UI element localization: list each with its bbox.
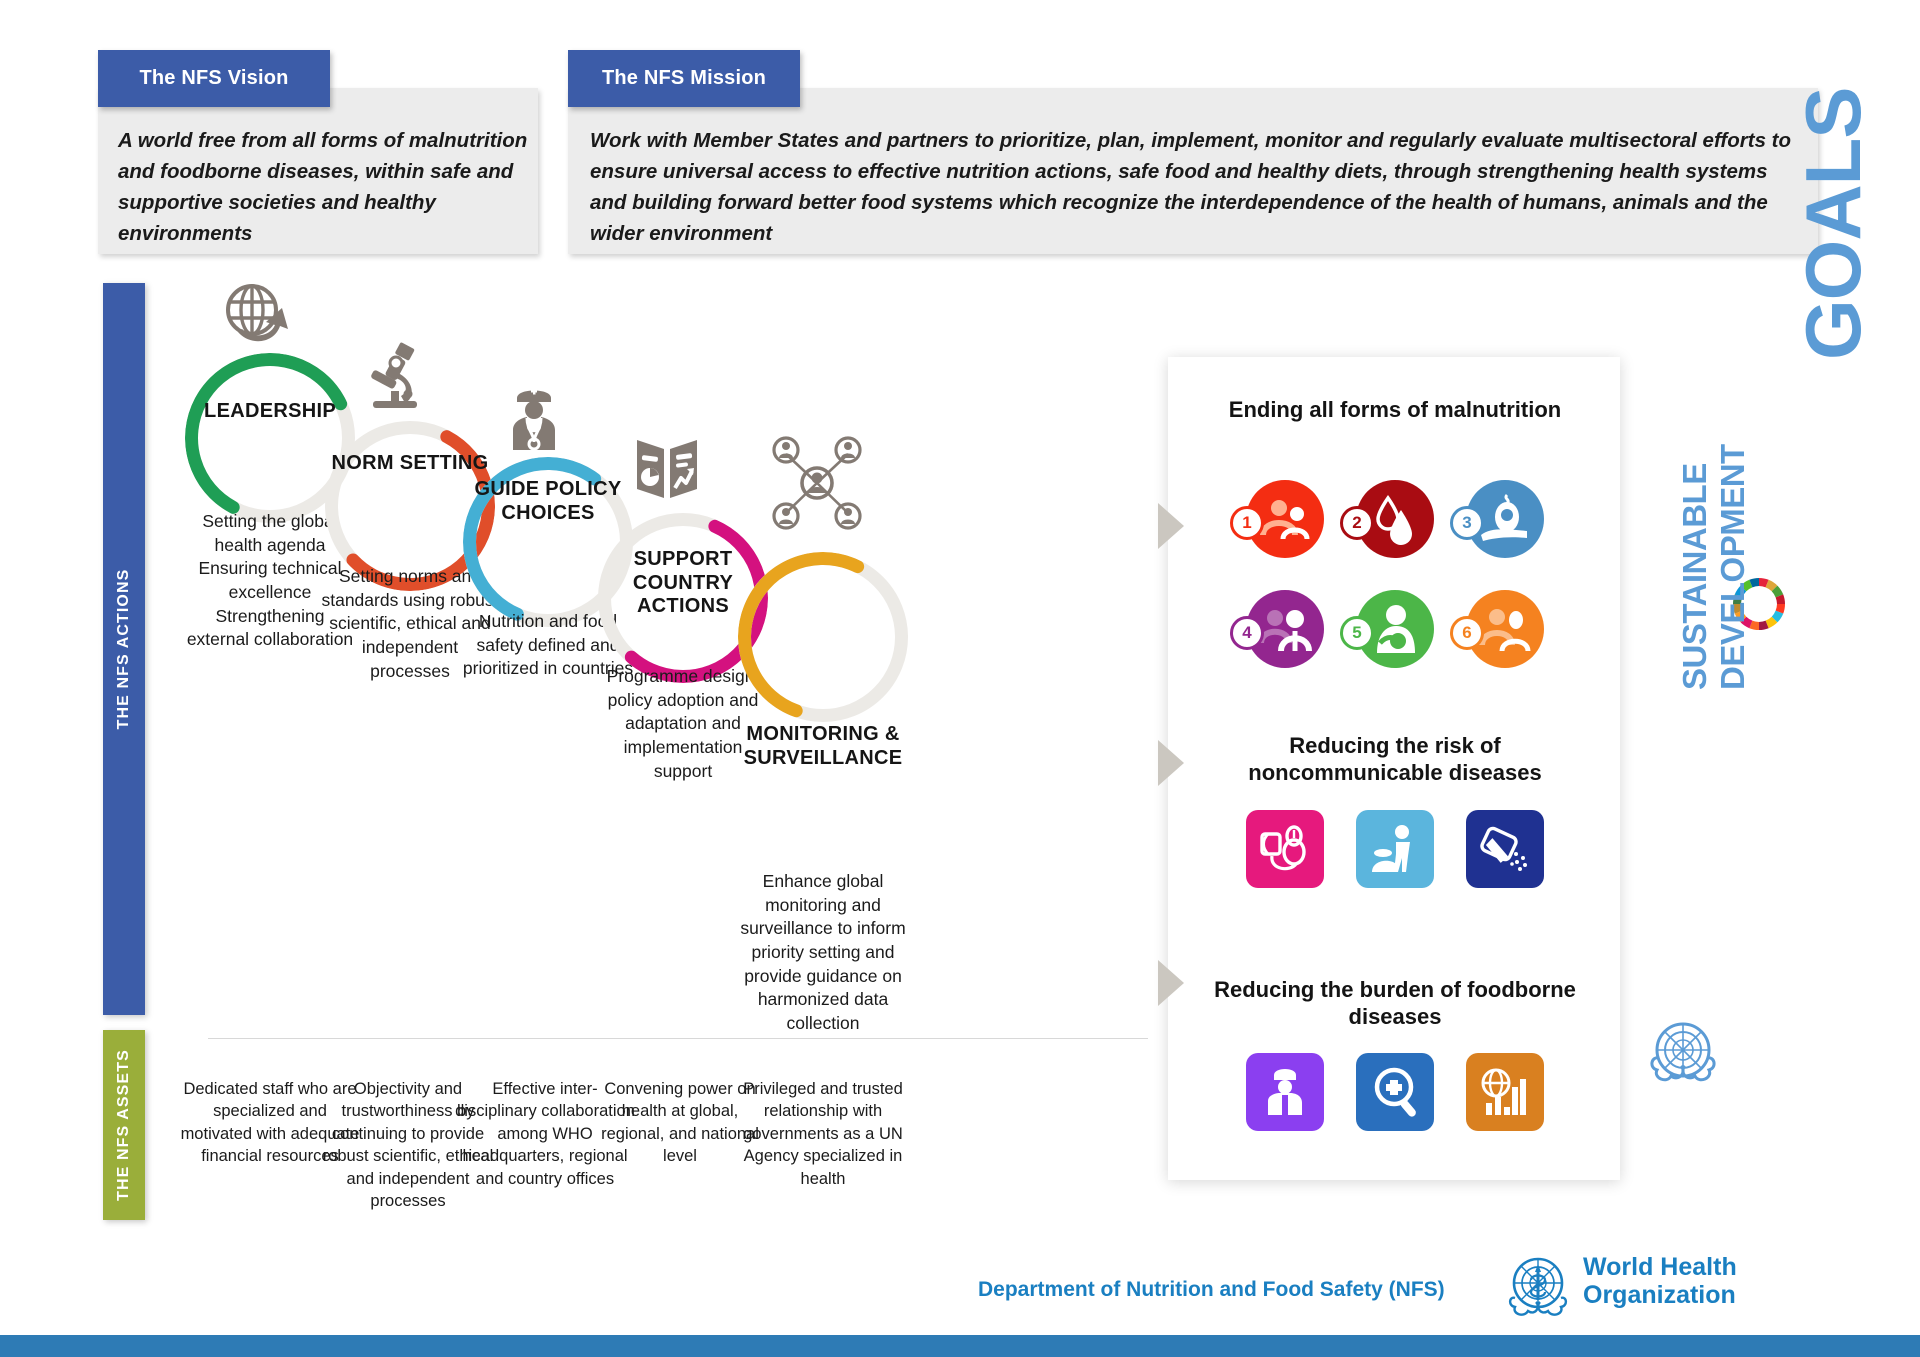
sdg-number: 5 — [1352, 623, 1361, 643]
sdg-number: 2 — [1352, 513, 1361, 533]
sdg-icon-global-food-trade[interactable] — [1466, 1053, 1544, 1131]
who-organization-text: World Health Organization — [1583, 1254, 1737, 1309]
action-node-monitoring[interactable] — [738, 552, 908, 722]
goal-icons-ncd-row — [1190, 810, 1600, 888]
goal-icons-foodborne-row — [1190, 1053, 1600, 1131]
sdg-icon-anaemia[interactable]: 2 — [1356, 480, 1434, 558]
health-worker-icon — [503, 382, 565, 452]
sdg-icon-blood-pressure[interactable] — [1246, 810, 1324, 888]
sdg-icon-childhood-overweight[interactable]: 4 — [1246, 590, 1324, 668]
sdg-wordmark: GOALS — [1640, 360, 1830, 1020]
sdg-icon-wasting[interactable]: 6 — [1466, 590, 1544, 668]
sdg-icon-low-birthweight[interactable]: 3 — [1466, 480, 1544, 558]
sdg-icon-food-handler[interactable] — [1246, 1053, 1324, 1131]
footer-blue-bar — [0, 1335, 1920, 1357]
sdg-icon-salt-reduction[interactable] — [1466, 810, 1544, 888]
footer-department: Department of Nutrition and Food Safety … — [978, 1278, 1498, 1302]
node-title-text: MONITORING & SURVEILLANCE — [723, 723, 923, 770]
vision-tab-label: The NFS Vision — [139, 67, 288, 90]
vision-body: A world free from all forms of malnutrit… — [118, 125, 538, 250]
report-chart-icon — [633, 432, 701, 504]
mission-body: Work with Member States and partners to … — [590, 125, 1800, 250]
node-ring-arc — [738, 552, 908, 722]
assets-divider — [208, 1038, 1148, 1039]
sdg-badge-number: 5 — [1340, 616, 1374, 650]
infographic-root: The NFS Vision A world free from all for… — [0, 0, 1920, 1357]
sdg-number: 3 — [1462, 513, 1471, 533]
footer-white-strip — [0, 1328, 1920, 1335]
goal-title-ncd: Reducing the risk of noncommunicable dis… — [1190, 733, 1600, 787]
network-people-icon — [762, 428, 872, 536]
goal-title-malnutrition: Ending all forms of malnutrition — [1190, 397, 1600, 424]
arrow-marker-goal-1 — [1158, 503, 1184, 549]
arrow-marker-goal-2 — [1158, 740, 1184, 786]
node-desc-monitoring: Enhance global monitoring and surveillan… — [723, 870, 923, 1035]
sidebar-assets-bar: THE NFS ASSETS — [103, 1030, 145, 1220]
who-line-1: World Health — [1583, 1254, 1737, 1282]
vision-tab: The NFS Vision — [98, 50, 330, 107]
microscope-icon — [363, 341, 425, 415]
node-title-monitoring: MONITORING & SURVEILLANCE — [723, 723, 923, 770]
sdg-badge-number: 1 — [1230, 506, 1264, 540]
sdg-number: 1 — [1242, 513, 1251, 533]
sdg-icon-physical-activity[interactable] — [1356, 810, 1434, 888]
sdg-badge-number: 6 — [1450, 616, 1484, 650]
sdg-sustainable-text: SUSTAINABLE — [1676, 463, 1714, 690]
sdg-icon-breastfeeding[interactable]: 5 — [1356, 590, 1434, 668]
asset-text-monitoring: Privileged and trusted relationship with… — [728, 1078, 918, 1190]
sdg-icon-food-inspection[interactable] — [1356, 1053, 1434, 1131]
sidebar-assets-label: THE NFS ASSETS — [115, 1049, 133, 1201]
arrow-marker-goal-3 — [1158, 960, 1184, 1006]
who-logo-icon — [1505, 1250, 1571, 1316]
sdg-development-text: DEVELOPMENT — [1714, 444, 1752, 690]
goal-title-foodborne: Reducing the burden of foodborne disease… — [1190, 977, 1600, 1031]
sdg-badge-number: 3 — [1450, 506, 1484, 540]
who-line-2: Organization — [1583, 1282, 1737, 1310]
sdg-goals-text: GOALS — [1788, 88, 1879, 360]
goal-icons-malnutrition-row1: 1 2 3 — [1190, 480, 1600, 558]
sdg-badge-number: 2 — [1340, 506, 1374, 540]
mission-tab: The NFS Mission — [568, 50, 800, 107]
mission-tab-label: The NFS Mission — [602, 67, 766, 90]
sdg-number: 4 — [1242, 623, 1251, 643]
goal-icons-malnutrition-row2: 4 5 6 — [1190, 590, 1600, 668]
sdg-badge-number: 4 — [1230, 616, 1264, 650]
sdg-number: 6 — [1462, 623, 1471, 643]
sidebar-actions-label: THE NFS ACTIONS — [115, 569, 133, 730]
sdg-icon-stunting[interactable]: 1 — [1246, 480, 1324, 558]
sidebar-actions-bar: THE NFS ACTIONS — [103, 283, 145, 1015]
globe-arrow-icon — [222, 282, 292, 348]
un-emblem-icon — [1645, 1012, 1721, 1088]
